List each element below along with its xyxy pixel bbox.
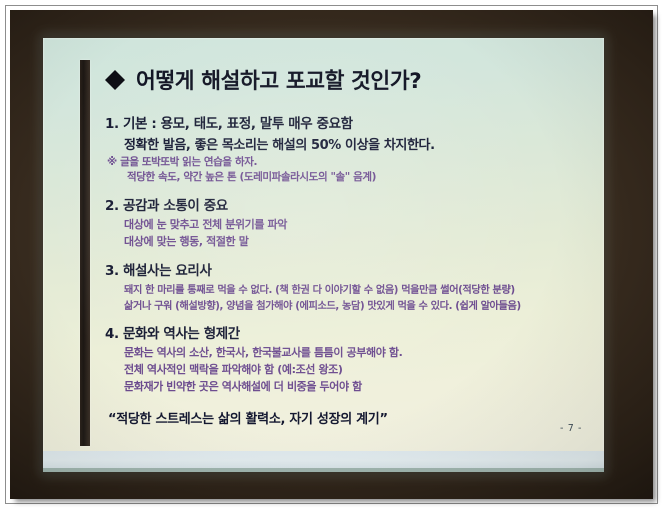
section-subline: 대상에 눈 맞추고 전체 분위기를 파악: [124, 216, 593, 232]
section-heading: 2. 공감과 소통이 중요: [105, 194, 593, 214]
section-subline: 전체 역사적인 맥락을 파악해야 함 (예:조선 왕조): [124, 361, 593, 377]
section-heading: 3. 해설사는 요리사: [105, 259, 593, 279]
section-note: ※ 글을 또박또박 읽는 연습을 하자.: [107, 154, 593, 169]
section-2: 2. 공감과 소통이 중요 대상에 눈 맞추고 전체 분위기를 파악 대상에 맞…: [105, 194, 593, 249]
slide-footer-band: [43, 451, 604, 468]
slide-content: 어떻게 해설하고 포교할 것인가? 1. 기본 : 용모, 태도, 표정, 말투…: [105, 64, 593, 427]
section-heading: 1. 기본 : 용모, 태도, 표정, 말투 매우 중요함: [105, 112, 593, 132]
section-subline: 문화는 역사의 소산, 한국사, 한국불교사를 틈틈이 공부해야 함.: [124, 344, 593, 360]
diamond-bullet-icon: [105, 60, 125, 80]
slide-bottom-edge: [43, 468, 604, 472]
left-decorative-bar: [80, 60, 90, 446]
section-subline: 삶거나 구워 (해설방향), 양념을 첨가해야 (에피소드, 농담) 맛있게 먹…: [124, 297, 593, 312]
section-subline: 정확한 발음, 좋은 목소리는 해설의 50% 이상을 차지한다.: [124, 134, 593, 153]
page-number: - 7 -: [560, 423, 582, 434]
section-subline: 대상에 맞는 행동, 적절한 말: [124, 233, 593, 249]
closing-quote: “적당한 스트레스는 삶의 활력소, 자기 성장의 계기”: [108, 408, 593, 427]
section-subline: 돼지 한 마리를 통째로 먹을 수 없다. (책 한권 다 이야기할 수 없음)…: [124, 281, 593, 296]
section-heading: 4. 문화와 역사는 형제간: [105, 322, 593, 342]
projected-slide: 어떻게 해설하고 포교할 것인가? 1. 기본 : 용모, 태도, 표정, 말투…: [43, 38, 604, 472]
photo-frame: 어떻게 해설하고 포교할 것인가? 1. 기본 : 용모, 태도, 표정, 말투…: [0, 0, 663, 509]
section-note: 적당한 속도, 약간 높은 톤 (도레미파솔라시도의 "솔" 음계): [127, 169, 593, 184]
section-subline: 문화재가 빈약한 곳은 역사해설에 더 비중을 두어야 함: [124, 378, 593, 394]
page-title: 어떻게 해설하고 포교할 것인가?: [136, 64, 421, 95]
section-4: 4. 문화와 역사는 형제간 문화는 역사의 소산, 한국사, 한국불교사를 틈…: [105, 322, 593, 394]
projection-wall-background: 어떻게 해설하고 포교할 것인가? 1. 기본 : 용모, 태도, 표정, 말투…: [10, 10, 653, 499]
section-1: 1. 기본 : 용모, 태도, 표정, 말투 매우 중요함 정확한 발음, 좋은…: [105, 112, 593, 184]
slide-title-row: 어떻게 해설하고 포교할 것인가?: [105, 64, 593, 95]
section-3: 3. 해설사는 요리사 돼지 한 마리를 통째로 먹을 수 없다. (책 한권 …: [105, 259, 593, 312]
